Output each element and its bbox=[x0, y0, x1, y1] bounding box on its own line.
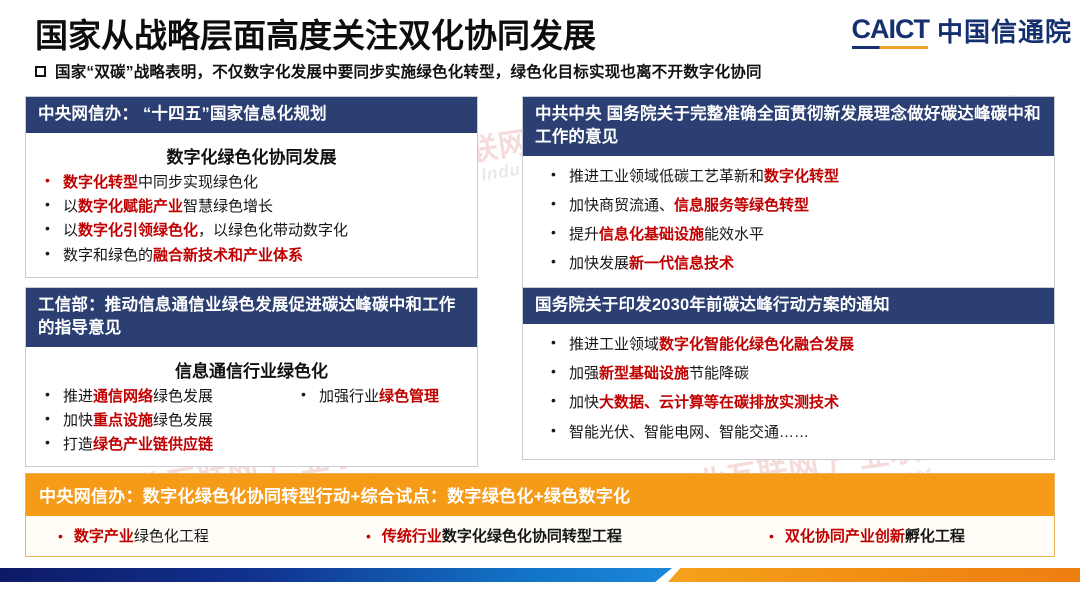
text-run: 绿色发展 bbox=[153, 388, 213, 405]
bottom-item: • 传统行业数字化绿色化协同转型工程 bbox=[366, 525, 761, 546]
card-miit-title: 工信部：推动信息通信业绿色发展促进碳达峰碳中和工作的指导意见 bbox=[26, 288, 477, 347]
list-item: 加强行业绿色管理 bbox=[289, 386, 467, 407]
text-run: 中同步实现绿色化 bbox=[138, 174, 258, 191]
text-run: 绿色化工程 bbox=[134, 528, 209, 545]
page-title: 国家从战略层面高度关注双化协同发展 bbox=[35, 9, 596, 57]
caict-wordmark-text: CAICT bbox=[851, 14, 929, 45]
bullet-dot-icon: • bbox=[58, 529, 63, 543]
card-bottom-title: 中央网信办：数字化绿色化协同转型行动+综合试点：数字绿色化+绿色数字化 bbox=[26, 474, 1054, 516]
slide-header: 国家从战略层面高度关注双化协同发展 CAICT 中国信通院 bbox=[0, 0, 1080, 57]
subtitle-row: 国家“双碳”战略表明，不仅数字化发展中要同步实施绿色化转型，绿色化目标实现也离不… bbox=[35, 60, 762, 82]
card-cac-subhead: 数字化绿色化协同发展 bbox=[36, 143, 467, 168]
text-run: 加强行业 bbox=[319, 388, 379, 405]
card-cac-bullet-list: 数字化转型中同步实现绿色化以数字化赋能产业智慧绿色增长以数字化引领绿色化，以绿色… bbox=[36, 172, 467, 266]
text-run: 数字产业 bbox=[74, 528, 134, 545]
text-run: 推进工业领域低碳工艺革新和 bbox=[569, 168, 764, 185]
text-run: 加快 bbox=[569, 394, 599, 411]
subtitle-text: 国家“双碳”战略表明，不仅数字化发展中要同步实施绿色化转型，绿色化目标实现也离不… bbox=[55, 60, 762, 82]
text-run: 以 bbox=[63, 222, 78, 239]
text-run: 重点设施 bbox=[93, 412, 153, 429]
list-item: 加快大数据、云计算等在碳排放实测技术 bbox=[533, 392, 1044, 413]
text-run: 以 bbox=[63, 198, 78, 215]
footer-ribbon bbox=[0, 568, 1080, 582]
bottom-item-label: 传统行业数字化绿色化协同转型工程 bbox=[382, 525, 622, 546]
footer-ribbon-blue bbox=[0, 568, 672, 582]
list-item: 智能光伏、智能电网、智能交通…… bbox=[533, 422, 1044, 443]
text-run: 信息化基础设施 bbox=[599, 226, 704, 243]
text-run: 双化协同产业创新 bbox=[785, 528, 905, 545]
card-bottom-action[interactable]: 中央网信办：数字化绿色化协同转型行动+综合试点：数字绿色化+绿色数字化 • 数字… bbox=[25, 473, 1055, 557]
text-run: 数字化智能化绿色化融合发展 bbox=[659, 336, 854, 353]
card-miit-bullet-list-right: 加强行业绿色管理 bbox=[289, 386, 467, 407]
text-run: 传统行业 bbox=[382, 528, 442, 545]
text-run: 新一代信息技术 bbox=[629, 255, 734, 272]
footer-ribbon-orange bbox=[668, 568, 1080, 582]
list-item: 加强新型基础设施节能降碳 bbox=[533, 363, 1044, 384]
text-run: ，以绿色化带动数字化 bbox=[198, 222, 348, 239]
text-run: 数字化赋能产业 bbox=[78, 198, 183, 215]
text-run: 数字化转型 bbox=[63, 174, 138, 191]
text-run: 融合新技术和产业体系 bbox=[153, 247, 303, 264]
card-gwy-title: 国务院关于印发2030年前碳达峰行动方案的通知 bbox=[523, 288, 1054, 324]
card-miit-bullet-list-left: 推进通信网络绿色发展加快重点设施绿色发展打造绿色产业链供应链 bbox=[36, 386, 289, 456]
list-item: 以数字化引领绿色化，以绿色化带动数字化 bbox=[36, 220, 467, 241]
text-run: 加快发展 bbox=[569, 255, 629, 272]
list-item: 数字和绿色的融合新技术和产业体系 bbox=[36, 245, 467, 266]
card-gwy[interactable]: 国务院关于印发2030年前碳达峰行动方案的通知 推进工业领域数字化智能化绿色化融… bbox=[522, 287, 1055, 460]
bullet-dot-icon: • bbox=[366, 529, 371, 543]
bottom-item-label: 数字产业绿色化工程 bbox=[74, 525, 209, 546]
text-run: 加快 bbox=[63, 412, 93, 429]
text-run: 绿色发展 bbox=[153, 412, 213, 429]
text-run: 推进工业领域 bbox=[569, 336, 659, 353]
list-item: 数字化转型中同步实现绿色化 bbox=[36, 172, 467, 193]
card-cpc-title: 中共中央 国务院关于完整准确全面贯彻新发展理念做好碳达峰碳中和工作的意见 bbox=[523, 97, 1054, 156]
card-bottom-body: • 数字产业绿色化工程 • 传统行业数字化绿色化协同转型工程 • 双化协同产业创… bbox=[26, 516, 1054, 556]
list-item: 加快发展新一代信息技术 bbox=[533, 253, 1044, 274]
list-item: 提升信息化基础设施能效水平 bbox=[533, 224, 1044, 245]
text-run: 通信网络 bbox=[93, 388, 153, 405]
card-cpc-body: 推进工业领域低碳工艺革新和数字化转型加快商贸流通、信息服务等绿色转型提升信息化基… bbox=[523, 156, 1054, 291]
list-item: 推进工业领域低碳工艺革新和数字化转型 bbox=[533, 166, 1044, 187]
list-item: 加快重点设施绿色发展 bbox=[36, 410, 289, 431]
list-item: 推进工业领域数字化智能化绿色化融合发展 bbox=[533, 334, 1044, 355]
text-run: 数字和绿色的 bbox=[63, 247, 153, 264]
text-run: 大数据、云计算等在碳排放实测技术 bbox=[599, 394, 839, 411]
text-run: 新型基础设施 bbox=[599, 365, 689, 382]
slide-canvas: 工业互联网 产业联盟 Alliance of Industrial Intern… bbox=[0, 0, 1080, 608]
text-run: 节能降碳 bbox=[689, 365, 749, 382]
card-miit[interactable]: 工信部：推动信息通信业绿色发展促进碳达峰碳中和工作的指导意见 信息通信行业绿色化… bbox=[25, 287, 478, 467]
list-item: 加快商贸流通、信息服务等绿色转型 bbox=[533, 195, 1044, 216]
card-cac[interactable]: 中央网信办： “十四五”国家信息化规划 数字化绿色化协同发展 数字化转型中同步实… bbox=[25, 96, 478, 278]
card-gwy-bullet-list: 推进工业领域数字化智能化绿色化融合发展加强新型基础设施节能降碳加快大数据、云计算… bbox=[533, 334, 1044, 443]
bottom-item: • 数字产业绿色化工程 bbox=[58, 525, 358, 546]
text-run: 数字化绿色化协同转型工程 bbox=[442, 528, 622, 545]
text-run: 加快商贸流通、 bbox=[569, 197, 674, 214]
list-item: 推进通信网络绿色发展 bbox=[36, 386, 289, 407]
text-run: 智能光伏、智能电网、智能交通…… bbox=[569, 424, 809, 441]
text-run: 提升 bbox=[569, 226, 599, 243]
card-cpc-bullet-list: 推进工业领域低碳工艺革新和数字化转型加快商贸流通、信息服务等绿色转型提升信息化基… bbox=[533, 166, 1044, 275]
card-cac-body: 数字化绿色化协同发展 数字化转型中同步实现绿色化以数字化赋能产业智慧绿色增长以数… bbox=[26, 133, 477, 277]
text-run: 绿色产业链供应链 bbox=[93, 436, 213, 453]
text-run: 加强 bbox=[569, 365, 599, 382]
text-run: 推进 bbox=[63, 388, 93, 405]
bullet-dot-icon: • bbox=[769, 529, 774, 543]
text-run: 智慧绿色增长 bbox=[183, 198, 273, 215]
list-item: 打造绿色产业链供应链 bbox=[36, 434, 289, 455]
text-run: 数字化引领绿色化 bbox=[78, 222, 198, 239]
caict-logo: CAICT 中国信通院 bbox=[851, 14, 1072, 45]
text-run: 信息服务等绿色转型 bbox=[674, 197, 809, 214]
text-run: 数字化转型 bbox=[764, 168, 839, 185]
text-run: 孵化工程 bbox=[905, 528, 965, 545]
text-run: 能效水平 bbox=[704, 226, 764, 243]
bottom-item: • 双化协同产业创新孵化工程 bbox=[769, 525, 965, 546]
card-miit-body: 信息通信行业绿色化 推进通信网络绿色发展加快重点设施绿色发展打造绿色产业链供应链… bbox=[26, 347, 477, 467]
text-run: 绿色管理 bbox=[379, 388, 439, 405]
caict-wordmark: CAICT bbox=[851, 14, 929, 45]
card-gwy-body: 推进工业领域数字化智能化绿色化融合发展加强新型基础设施节能降碳加快大数据、云计算… bbox=[523, 324, 1054, 459]
card-miit-subhead: 信息通信行业绿色化 bbox=[36, 357, 467, 382]
card-cpc[interactable]: 中共中央 国务院关于完整准确全面贯彻新发展理念做好碳达峰碳中和工作的意见 推进工… bbox=[522, 96, 1055, 292]
caict-logo-cn: 中国信通院 bbox=[937, 19, 1072, 45]
text-run: 打造 bbox=[63, 436, 93, 453]
card-cac-title: 中央网信办： “十四五”国家信息化规划 bbox=[26, 97, 477, 133]
caict-underline bbox=[852, 46, 928, 49]
hollow-square-bullet-icon bbox=[35, 66, 46, 77]
bottom-item-label: 双化协同产业创新孵化工程 bbox=[785, 525, 965, 546]
list-item: 以数字化赋能产业智慧绿色增长 bbox=[36, 196, 467, 217]
